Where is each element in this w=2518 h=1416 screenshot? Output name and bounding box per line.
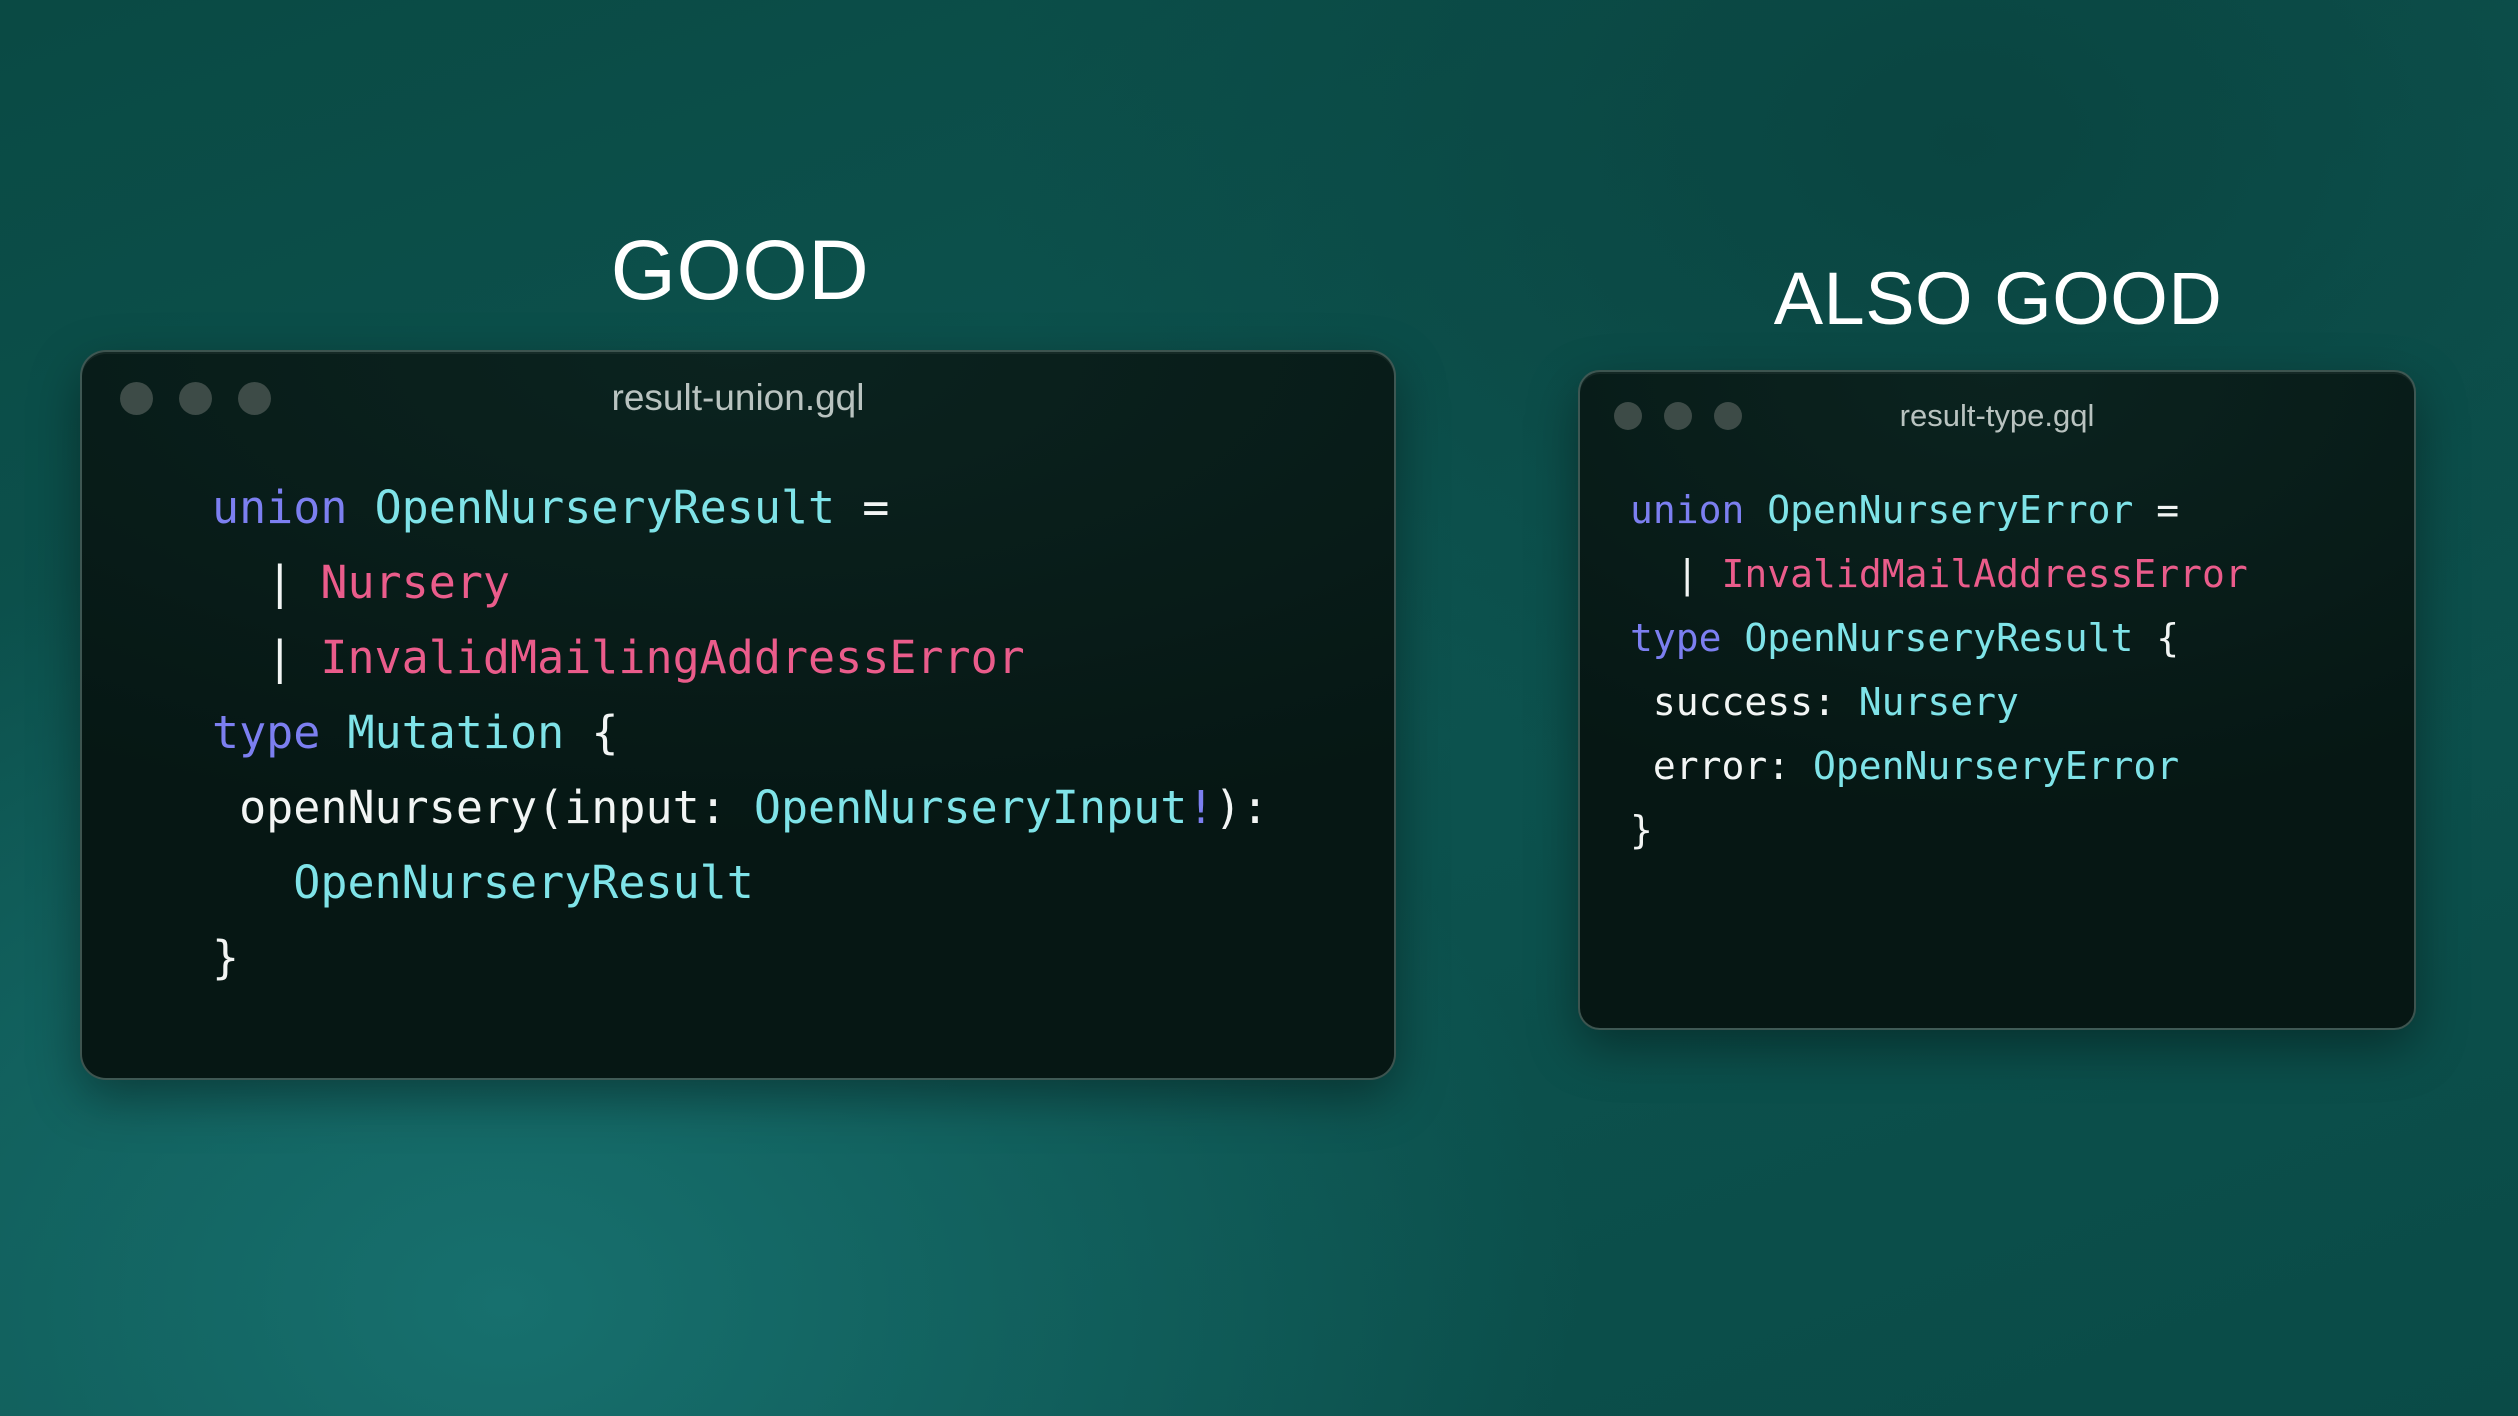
code-line: | Nursery bbox=[212, 545, 1394, 620]
code-token-punctuation: = bbox=[2156, 488, 2179, 532]
code-token-type: Mutation bbox=[347, 706, 564, 759]
code-token-plain bbox=[1744, 488, 1767, 532]
window-controls bbox=[1614, 402, 1764, 430]
code-token-plain bbox=[564, 706, 591, 759]
code-token-type: OpenNurseryResult bbox=[1744, 616, 2133, 660]
code-window-also-good: result-type.gql union OpenNurseryError =… bbox=[1578, 370, 2416, 1030]
code-token-plain: success: bbox=[1630, 680, 1859, 724]
code-token-plain: error: bbox=[1630, 744, 1813, 788]
code-token-type: OpenNurseryResult bbox=[375, 481, 836, 534]
code-token-plain bbox=[293, 631, 320, 684]
code-line: error: OpenNurseryError bbox=[1630, 734, 2414, 798]
code-token-keyword: type bbox=[212, 706, 320, 759]
code-token-plain bbox=[2133, 616, 2156, 660]
code-line: } bbox=[212, 920, 1394, 995]
window-controls bbox=[120, 382, 297, 415]
slide-canvas: GOOD result-union.gql union OpenNurseryR… bbox=[0, 0, 2518, 1416]
code-block-also-good: union OpenNurseryError = | InvalidMailAd… bbox=[1580, 460, 2414, 862]
code-token-punctuation: } bbox=[1630, 808, 1653, 852]
window-maximize-dot-icon[interactable] bbox=[1714, 402, 1742, 430]
code-token-punctuation: } bbox=[212, 931, 239, 984]
code-window-good: result-union.gql union OpenNurseryResult… bbox=[80, 350, 1396, 1080]
window-close-dot-icon[interactable] bbox=[1614, 402, 1642, 430]
panel-good: GOOD result-union.gql union OpenNurseryR… bbox=[80, 228, 1400, 1080]
code-token-plain bbox=[1722, 616, 1745, 660]
code-token-type: OpenNurseryInput bbox=[754, 781, 1187, 834]
code-token-type: Nursery bbox=[1859, 680, 2019, 724]
panel-title-also-good: ALSO GOOD bbox=[1578, 262, 2418, 336]
code-line: union OpenNurseryResult = bbox=[212, 470, 1394, 545]
code-token-keyword: type bbox=[1630, 616, 1722, 660]
window-close-dot-icon[interactable] bbox=[120, 382, 153, 415]
code-token-punctuation: | bbox=[266, 556, 293, 609]
code-token-error-type: Nursery bbox=[320, 556, 510, 609]
code-window-titlebar: result-union.gql bbox=[82, 352, 1394, 444]
code-token-plain bbox=[835, 481, 862, 534]
code-token-keyword: union bbox=[1630, 488, 1744, 532]
panel-also-good: ALSO GOOD result-type.gql union OpenNurs… bbox=[1578, 262, 2418, 1030]
code-token-plain bbox=[212, 856, 293, 909]
code-line: success: Nursery bbox=[1630, 670, 2414, 734]
code-token-plain: openNursery(input: bbox=[212, 781, 754, 834]
code-token-error-type: InvalidMailingAddressError bbox=[320, 631, 1024, 684]
code-token-punctuation: = bbox=[862, 481, 889, 534]
code-token-punctuation: | bbox=[266, 631, 293, 684]
code-token-punctuation: ): bbox=[1214, 781, 1268, 834]
code-token-bang: ! bbox=[1187, 781, 1214, 834]
code-token-plain bbox=[320, 706, 347, 759]
code-token-punctuation: { bbox=[591, 706, 618, 759]
code-line: union OpenNurseryError = bbox=[1630, 478, 2414, 542]
code-block-good: union OpenNurseryResult = | Nursery | In… bbox=[82, 444, 1394, 995]
code-token-punctuation: { bbox=[2156, 616, 2179, 660]
code-token-plain bbox=[293, 556, 320, 609]
code-token-plain bbox=[212, 631, 266, 684]
code-token-punctuation: | bbox=[1676, 552, 1699, 596]
window-minimize-dot-icon[interactable] bbox=[1664, 402, 1692, 430]
code-token-plain bbox=[1699, 552, 1722, 596]
window-maximize-dot-icon[interactable] bbox=[238, 382, 271, 415]
code-line: type Mutation { bbox=[212, 695, 1394, 770]
code-line: | InvalidMailAddressError bbox=[1630, 542, 2414, 606]
code-line: OpenNurseryResult bbox=[212, 845, 1394, 920]
code-line: } bbox=[1630, 798, 2414, 862]
code-token-keyword: union bbox=[212, 481, 347, 534]
code-line: | InvalidMailingAddressError bbox=[212, 620, 1394, 695]
code-line: openNursery(input: OpenNurseryInput!): bbox=[212, 770, 1394, 845]
code-token-plain bbox=[347, 481, 374, 534]
code-token-type: OpenNurseryError bbox=[1767, 488, 2133, 532]
code-window-titlebar: result-type.gql bbox=[1580, 372, 2414, 460]
code-token-plain bbox=[2133, 488, 2156, 532]
code-token-plain bbox=[212, 556, 266, 609]
code-token-type: OpenNurseryError bbox=[1813, 744, 2179, 788]
code-token-error-type: InvalidMailAddressError bbox=[1722, 552, 2248, 596]
code-token-plain bbox=[1630, 552, 1676, 596]
code-line: type OpenNurseryResult { bbox=[1630, 606, 2414, 670]
code-token-type: OpenNurseryResult bbox=[293, 856, 754, 909]
window-minimize-dot-icon[interactable] bbox=[179, 382, 212, 415]
panel-title-good: GOOD bbox=[80, 228, 1400, 312]
